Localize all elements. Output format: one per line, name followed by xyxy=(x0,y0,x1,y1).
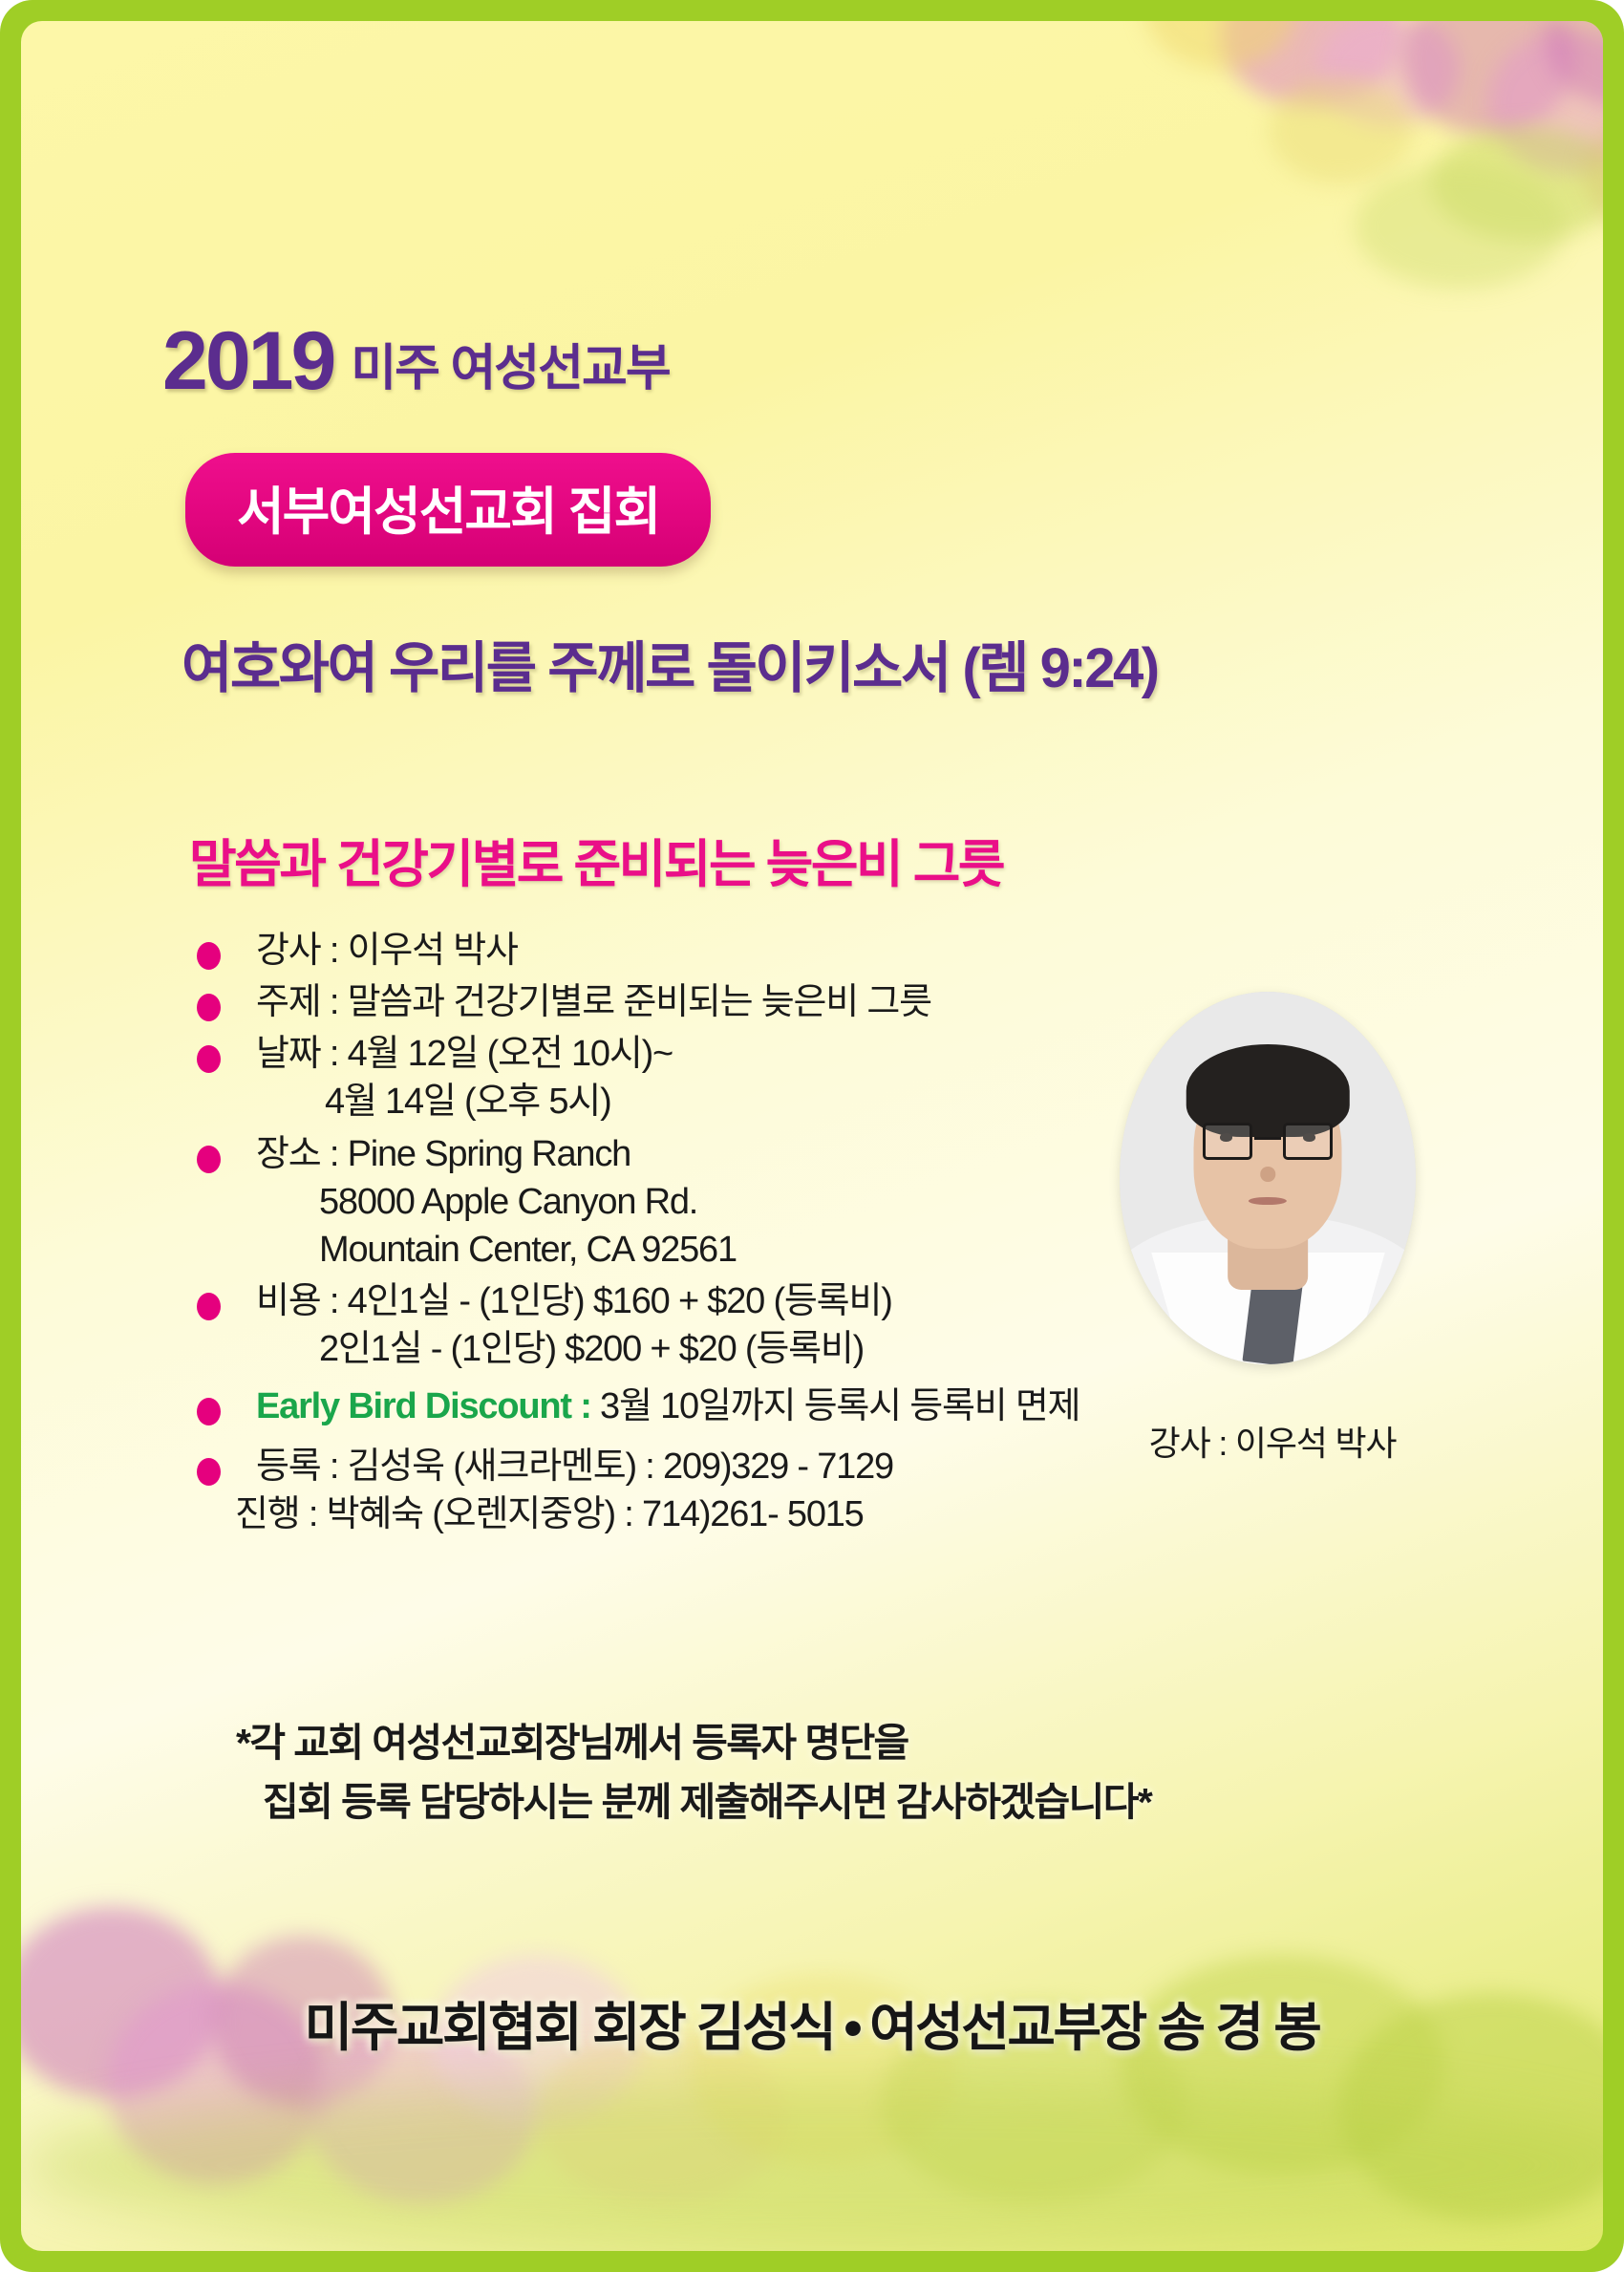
detail-date-end: 4월 14일 (오후 5시) xyxy=(256,1078,1156,1125)
photo-mouth xyxy=(1249,1197,1287,1206)
bullet-dot-icon xyxy=(197,1045,221,1073)
note-block: *각 교회 여성선교회장님께서 등록자 명단을 집회 등록 담당하시는 분께 제… xyxy=(236,1714,1151,1832)
list-item-cost: 비용 : 4인1실 - (1인당) $160 + $20 (등록비) 2인1실 … xyxy=(191,1277,1156,1373)
list-item-registration: 등록 : 김성욱 (새크라멘토) : 209)329 - 7129 진행 : 박… xyxy=(191,1443,1156,1538)
registration-contact-2: 진행 : 박혜숙 (오렌지중앙) : 714)261- 5015 xyxy=(235,1490,1156,1538)
list-item-date: 날짜 : 4월 12일 (오전 10시)~ 4월 14일 (오후 5시) xyxy=(191,1030,1156,1125)
photo-nose xyxy=(1260,1167,1275,1182)
glasses-icon xyxy=(1283,1123,1334,1160)
scripture-verse: 여호와여 우리를 주께로 돌이키소서 (렘 9:24) xyxy=(182,623,1158,703)
footer-separator: • xyxy=(834,1998,869,2057)
bullet-dot-icon xyxy=(197,942,221,970)
bullet-dot-icon xyxy=(197,1398,221,1425)
details-list: 강사 : 이우석 박사 주제 : 말씀과 건강기별로 준비되는 늦은비 그릇 날… xyxy=(191,927,1156,1542)
detail-topic: 주제 : 말씀과 건강기별로 준비되는 늦은비 그릇 xyxy=(256,978,1156,1026)
early-bird-label: Early Bird Discount xyxy=(256,1386,571,1426)
speaker-photo-caption: 강사 : 이우석 박사 xyxy=(1120,1416,1425,1466)
registration-contact-1: 등록 : 김성욱 (새크라멘토) : 209)329 - 7129 xyxy=(256,1443,1156,1490)
glasses-icon xyxy=(1203,1123,1253,1160)
early-bird-line: Early Bird Discount : 3월 10일까지 등록시 등록비 면… xyxy=(256,1382,1156,1430)
detail-address-street: 58000 Apple Canyon Rd. xyxy=(256,1178,1156,1226)
glasses-bridge xyxy=(1254,1137,1281,1140)
note-line-1: *각 교회 여성선교회장님께서 등록자 명단을 xyxy=(236,1714,1151,1773)
footer-left: 미주교회협회 회장 김성식 xyxy=(305,1998,835,2057)
event-badge: 서부여성선교회 집회 xyxy=(185,453,711,567)
early-bird-text: 3월 10일까지 등록시 등록비 면제 xyxy=(600,1386,1079,1426)
page-title: 말씀과 건강기별로 준비되는 늦은비 그릇 xyxy=(189,822,1003,897)
header-year-row: 2019 미주 여성선교부 xyxy=(162,325,670,398)
detail-cost-double: 2인1실 - (1인당) $200 + $20 (등록비) xyxy=(256,1325,1156,1373)
bullet-dot-icon xyxy=(197,1146,221,1173)
detail-date-start: 날짜 : 4월 12일 (오전 10시)~ xyxy=(256,1030,1156,1078)
bullet-dot-icon xyxy=(197,1458,221,1486)
list-item-speaker: 강사 : 이우석 박사 xyxy=(191,927,1156,975)
speaker-photo xyxy=(1120,992,1416,1364)
note-line-2: 집회 등록 담당하시는 분께 제출해주시면 감사하겠습니다* xyxy=(236,1773,1151,1833)
list-item-topic: 주제 : 말씀과 건강기별로 준비되는 늦은비 그릇 xyxy=(191,978,1156,1026)
bullet-dot-icon xyxy=(197,994,221,1021)
year-label: 2019 xyxy=(162,325,333,398)
poster-canvas: 2019 미주 여성선교부 서부여성선교회 집회 여호와여 우리를 주께로 돌이… xyxy=(21,21,1603,2251)
list-item-early-bird: Early Bird Discount : 3월 10일까지 등록시 등록비 면… xyxy=(191,1382,1156,1430)
detail-venue: 장소 : Pine Spring Ranch xyxy=(256,1130,1156,1178)
organization-label: 미주 여성선교부 xyxy=(351,343,669,399)
detail-cost-quad: 비용 : 4인1실 - (1인당) $160 + $20 (등록비) xyxy=(256,1277,1156,1325)
poster-root: 2019 미주 여성선교부 서부여성선교회 집회 여호와여 우리를 주께로 돌이… xyxy=(0,0,1624,2272)
bullet-dot-icon xyxy=(197,1293,221,1320)
early-bird-separator: : xyxy=(571,1386,600,1426)
avatar xyxy=(1120,992,1416,1364)
footer-right: 여성선교부장 송 경 봉 xyxy=(869,1998,1319,2057)
list-item-location: 장소 : Pine Spring Ranch 58000 Apple Canyo… xyxy=(191,1130,1156,1274)
footer-signature: 미주교회협회 회장 김성식•여성선교부장 송 경 봉 xyxy=(21,1984,1603,2061)
detail-address-city: Mountain Center, CA 92561 xyxy=(256,1226,1156,1274)
detail-speaker: 강사 : 이우석 박사 xyxy=(256,927,1156,975)
